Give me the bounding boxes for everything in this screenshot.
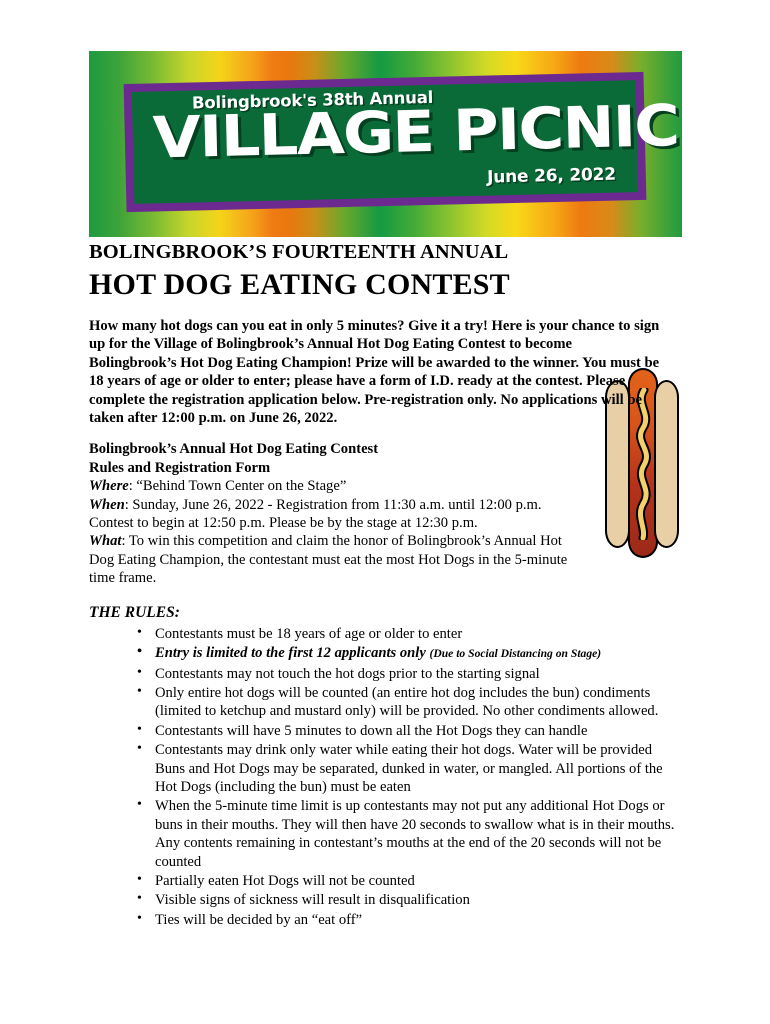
rules-item-text: Contestants may not touch the hot dogs p… — [155, 666, 540, 682]
rules-item-note: (Due to Social Distancing on Stage) — [429, 647, 601, 660]
page-title-line2: HOT DOG EATING CONTEST — [89, 267, 669, 303]
rules-item-text: Contestants may drink only water while e… — [155, 742, 663, 795]
info-when-extra: Contest to begin at 12:50 p.m. Please be… — [89, 514, 589, 532]
rules-list-item: Partially eaten Hot Dogs will not be cou… — [89, 872, 675, 890]
info-title-line1: Bolingbrook’s Annual Hot Dog Eating Cont… — [89, 440, 589, 458]
info-when-row: When: Sunday, June 26, 2022 - Registrati… — [89, 496, 589, 514]
banner-text-layer: Bolingbrook's 38th Annual VILLAGE PICNIC… — [124, 72, 647, 212]
rules-list-item: Visible signs of sickness will result in… — [89, 891, 675, 909]
rules-item-text: Ties will be decided by an “eat off” — [155, 912, 362, 928]
rules-item-text: Only entire hot dogs will be counted (an… — [155, 685, 658, 719]
rules-heading: THE RULES: — [89, 603, 669, 622]
document-body: BOLINGBROOK’S FOURTEENTH ANNUAL HOT DOG … — [89, 240, 669, 930]
info-what-row: What: To win this competition and claim … — [89, 532, 589, 587]
rules-list-item: When the 5-minute time limit is up conte… — [89, 797, 675, 871]
rules-list: Contestants must be 18 years of age or o… — [89, 625, 669, 930]
what-value: : To win this competition and claim the … — [89, 533, 567, 586]
intro-paragraph: How many hot dogs can you eat in only 5 … — [89, 317, 661, 427]
rules-list-item: Entry is limited to the first 12 applica… — [89, 644, 675, 663]
banner-date-text: June 26, 2022 — [487, 165, 616, 188]
rules-list-item: Only entire hot dogs will be counted (an… — [89, 684, 675, 721]
village-picnic-banner: Bolingbrook's 38th Annual VILLAGE PICNIC… — [89, 51, 682, 237]
when-value: : Sunday, June 26, 2022 - Registration f… — [125, 497, 542, 513]
info-where-row: Where: “Behind Town Center on the Stage” — [89, 477, 589, 495]
what-label: What — [89, 533, 121, 549]
rules-item-text: Contestants must be 18 years of age or o… — [155, 626, 462, 642]
where-value: : “Behind Town Center on the Stage” — [129, 478, 347, 494]
rules-list-item: Contestants may not touch the hot dogs p… — [89, 665, 675, 683]
contest-info-block: Bolingbrook’s Annual Hot Dog Eating Cont… — [89, 440, 589, 587]
rules-list-item: Ties will be decided by an “eat off” — [89, 911, 675, 929]
rules-item-text: When the 5-minute time limit is up conte… — [155, 798, 674, 869]
info-title-line2: Rules and Registration Form — [89, 459, 589, 477]
banner-title-text: VILLAGE PICNIC — [152, 98, 679, 167]
rules-item-text: Entry is limited to the first 12 applica… — [155, 645, 426, 661]
rules-list-item: Contestants will have 5 minutes to down … — [89, 722, 675, 740]
rules-item-text: Partially eaten Hot Dogs will not be cou… — [155, 873, 415, 889]
rules-item-text: Visible signs of sickness will result in… — [155, 892, 470, 908]
rules-list-item: Contestants must be 18 years of age or o… — [89, 625, 675, 643]
where-label: Where — [89, 478, 129, 494]
rules-list-item: Contestants may drink only water while e… — [89, 741, 675, 796]
rules-item-text: Contestants will have 5 minutes to down … — [155, 723, 587, 739]
when-label: When — [89, 497, 125, 513]
page-title-line1: BOLINGBROOK’S FOURTEENTH ANNUAL — [89, 240, 669, 265]
